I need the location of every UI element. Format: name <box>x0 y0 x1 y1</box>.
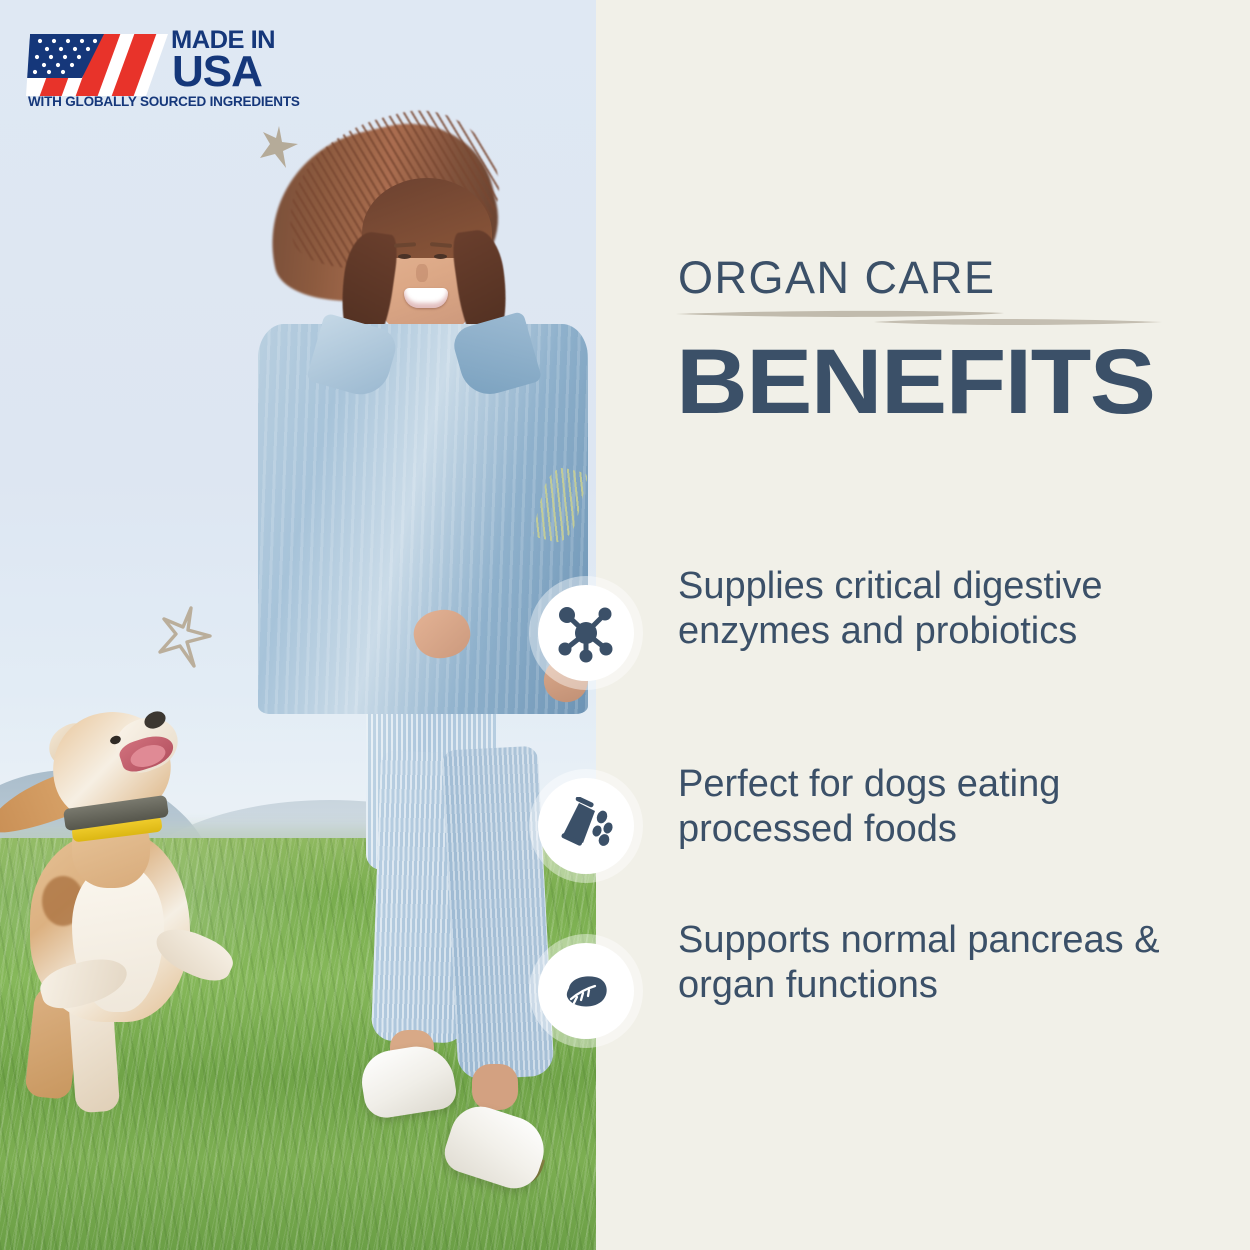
benefit-icon-2-bubble <box>538 778 634 874</box>
page-title: BENEFITS <box>676 336 1154 428</box>
star-filled-icon <box>252 122 302 172</box>
enzyme-molecule-icon <box>555 602 617 664</box>
benefit-text-2: Perfect for dogs eating processed foods <box>678 762 1208 852</box>
made-in-usa-wordmark: MADE IN USA <box>172 28 274 94</box>
eye-left <box>398 254 411 259</box>
eye-right <box>434 254 447 259</box>
leg-right <box>441 746 554 1081</box>
made-in-usa-badge: MADE IN USA WITH GLOBALLY SOURCED INGRED… <box>26 28 288 110</box>
dog-jumping <box>0 690 274 1120</box>
dog-food-bag-icon <box>557 797 615 855</box>
badge-subline: WITH GLOBALLY SOURCED INGREDIENTS <box>28 94 300 109</box>
nose <box>416 264 428 282</box>
star-outline-icon <box>150 600 224 674</box>
badge-line-1: MADE IN <box>171 28 275 53</box>
pancreas-organ-icon <box>557 962 615 1020</box>
smiling-mouth <box>404 288 448 308</box>
benefit-text-1: Supplies critical digestive enzymes and … <box>678 564 1198 654</box>
lifestyle-photo: MADE IN USA WITH GLOBALLY SOURCED INGRED… <box>0 0 596 1250</box>
ankle-right <box>472 1064 518 1110</box>
woman-running <box>258 112 588 1122</box>
sneaker-left <box>357 1041 458 1121</box>
benefits-panel: ORGAN CARE BENEFITS <box>596 0 1250 1250</box>
benefit-text-3: Supports normal pancreas & organ functio… <box>678 918 1198 1008</box>
benefit-icon-3-bubble <box>538 943 634 1039</box>
eyebrow-heading: ORGAN CARE <box>678 252 996 304</box>
badge-line-2: USA <box>172 50 274 94</box>
flourish-divider-icon <box>674 303 1164 331</box>
benefit-icon-1-bubble <box>538 585 634 681</box>
infographic-canvas: MADE IN USA WITH GLOBALLY SOURCED INGRED… <box>0 0 1250 1250</box>
usa-flag-icon <box>26 32 168 98</box>
